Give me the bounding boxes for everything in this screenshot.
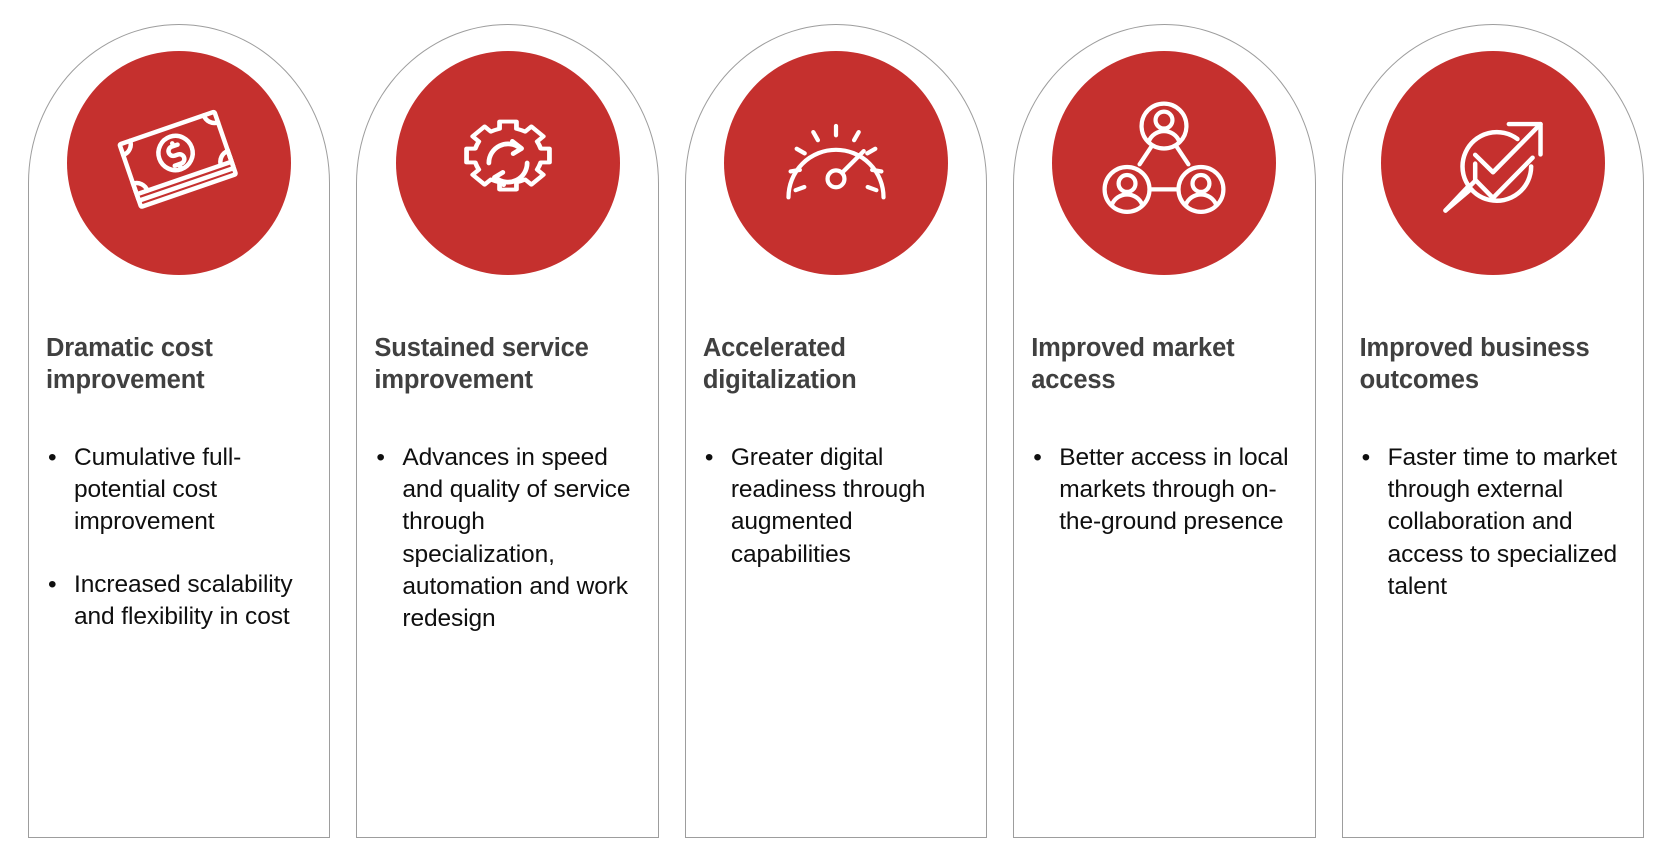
- list-item: • Increased scalability and flexibility …: [46, 569, 311, 633]
- card-body: Sustained service improvement • Advances…: [357, 275, 657, 837]
- list-item: • Cumulative full-potential cost improve…: [46, 442, 311, 538]
- card-title: Sustained service improvement: [374, 333, 639, 396]
- bullet-marker: •: [48, 442, 56, 474]
- icon-badge: [396, 51, 620, 275]
- icon-badge: [724, 51, 948, 275]
- bullet-text: Greater digital readiness through augmen…: [731, 444, 925, 567]
- card-body: Improved market access • Better access i…: [1014, 275, 1314, 837]
- bullet-list: • Advances in speed and quality of servi…: [374, 442, 639, 635]
- list-item: • Faster time to market through external…: [1360, 442, 1625, 602]
- benefit-card-sustained-service-improvement[interactable]: Sustained service improvement • Advances…: [356, 24, 658, 838]
- benefit-card-improved-business-outcomes[interactable]: Improved business outcomes • Faster time…: [1342, 24, 1644, 838]
- card-body: Dramatic cost improvement • Cumulative f…: [29, 275, 329, 837]
- banknotes-money-icon: [113, 97, 245, 229]
- bullet-text: Faster time to market through external c…: [1388, 444, 1617, 599]
- bullet-marker: •: [1033, 442, 1041, 474]
- bullet-text: Advances in speed and quality of service…: [402, 444, 630, 631]
- icon-badge: [67, 51, 291, 275]
- speedometer-gauge-icon: [770, 97, 902, 229]
- people-network-icon: [1098, 97, 1230, 229]
- list-item: • Greater digital readiness through augm…: [703, 442, 968, 570]
- bullet-list: • Better access in local markets through…: [1031, 442, 1296, 538]
- checkmark-growth-arrow-icon: [1427, 97, 1559, 229]
- benefit-card-row: Dramatic cost improvement • Cumulative f…: [28, 24, 1644, 838]
- bullet-text: Increased scalability and flexibility in…: [74, 571, 293, 630]
- list-item: • Advances in speed and quality of servi…: [374, 442, 639, 635]
- card-title: Improved market access: [1031, 333, 1296, 396]
- card-title: Accelerated digitalization: [703, 333, 968, 396]
- icon-badge: [1052, 51, 1276, 275]
- card-body: Accelerated digitalization • Greater dig…: [686, 275, 986, 837]
- bullet-list: • Greater digital readiness through augm…: [703, 442, 968, 570]
- icon-badge: [1381, 51, 1605, 275]
- card-body: Improved business outcomes • Faster time…: [1343, 275, 1643, 837]
- list-item: • Better access in local markets through…: [1031, 442, 1296, 538]
- card-title: Dramatic cost improvement: [46, 333, 311, 396]
- benefit-card-improved-market-access[interactable]: Improved market access • Better access i…: [1013, 24, 1315, 838]
- bullet-marker: •: [705, 442, 713, 474]
- bullet-text: Cumulative full-potential cost improveme…: [74, 444, 241, 535]
- bullet-list: • Faster time to market through external…: [1360, 442, 1625, 602]
- card-title: Improved business outcomes: [1360, 333, 1625, 396]
- bullet-marker: •: [376, 442, 384, 474]
- bullet-list: • Cumulative full-potential cost improve…: [46, 442, 311, 632]
- bullet-text: Better access in local markets through o…: [1059, 444, 1288, 535]
- gear-refresh-icon: [442, 97, 574, 229]
- benefit-card-accelerated-digitalization[interactable]: Accelerated digitalization • Greater dig…: [685, 24, 987, 838]
- bullet-marker: •: [48, 569, 56, 601]
- bullet-marker: •: [1362, 442, 1370, 474]
- infographic-board: Dramatic cost improvement • Cumulative f…: [0, 0, 1672, 866]
- benefit-card-dramatic-cost-improvement[interactable]: Dramatic cost improvement • Cumulative f…: [28, 24, 330, 838]
